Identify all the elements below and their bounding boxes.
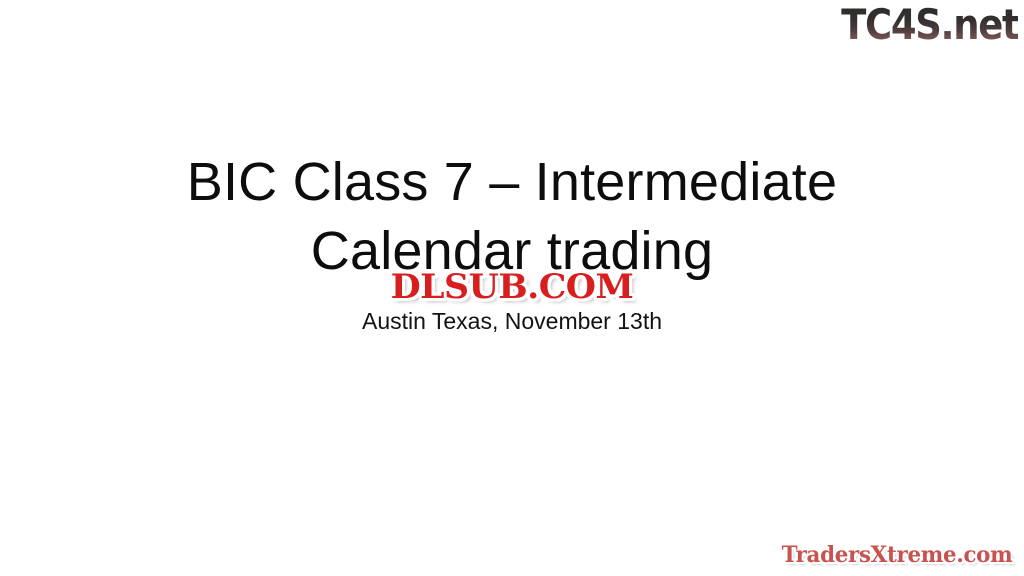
presentation-slide: TC4S.net BIC Class 7 – Intermediate Cale…: [0, 0, 1024, 576]
tradersxtreme-watermark: TradersXtreme.com: [778, 542, 1016, 568]
slide-title-line-1: BIC Class 7 – Intermediate: [0, 148, 1024, 217]
slide-subtitle: Austin Texas, November 13th: [0, 306, 1024, 336]
tradersxtreme-watermark-text: TradersXtreme.com: [782, 542, 1013, 568]
slide-title-block: BIC Class 7 – Intermediate Calendar trad…: [0, 148, 1024, 286]
slide-title-line-2: Calendar trading: [0, 217, 1024, 286]
tc4s-logo: TC4S.net: [841, 2, 1018, 48]
